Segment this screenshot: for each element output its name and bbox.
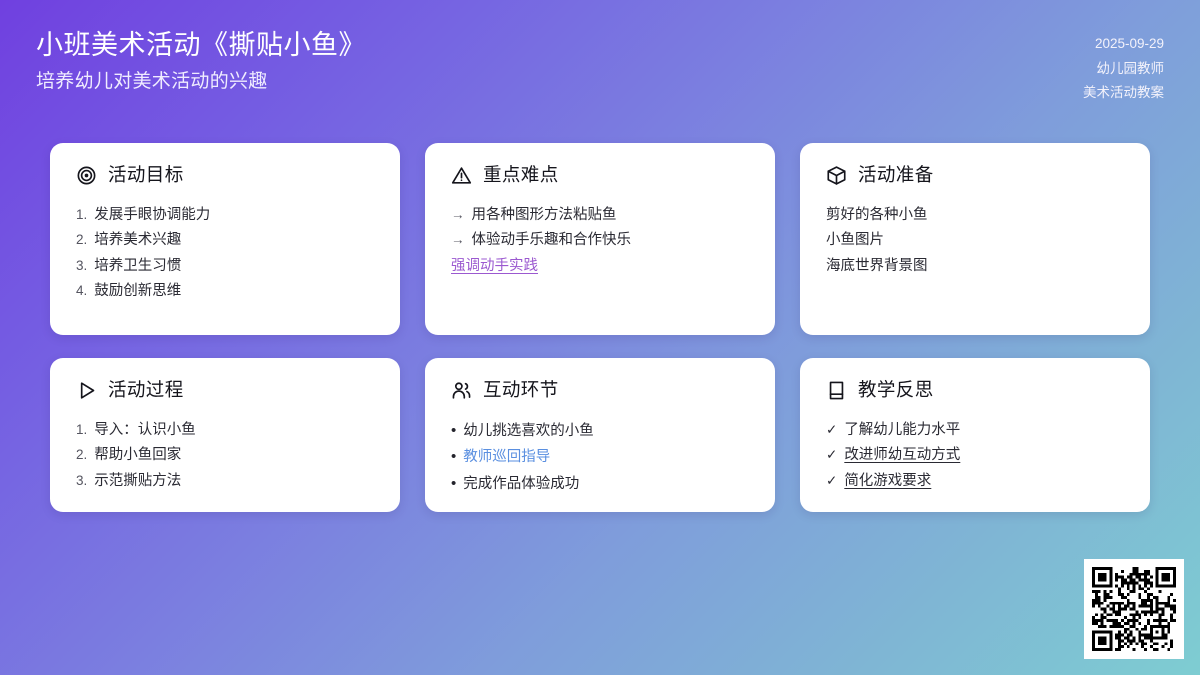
card-title: 活动过程 [108, 381, 184, 400]
list-item-link[interactable]: 教师巡回指导 [463, 450, 550, 465]
card-body: 1.发展手眼协调能力2.培养美术兴趣3.培养卫生习惯4.鼓励创新思维 [76, 202, 374, 304]
list-marker: → [451, 208, 465, 222]
list-marker: ✓ [826, 423, 837, 437]
list-item[interactable]: ✓简化游戏要求 [826, 468, 1124, 494]
list-item[interactable]: 2.帮助小鱼回家 [76, 443, 374, 469]
card-body: ✓了解幼儿能力水平✓改进师幼互动方式✓简化游戏要求 [826, 417, 1124, 494]
list-item-text: 用各种图形方法粘贴鱼 [472, 208, 617, 223]
list-marker: • [451, 476, 456, 491]
list-item-text: 小鱼图片 [826, 233, 884, 248]
card-interaction[interactable]: 互动环节•幼儿挑选喜欢的小鱼•教师巡回指导•完成作品体验成功 [425, 358, 775, 512]
card-header: 重点难点 [451, 165, 749, 186]
list-item[interactable]: 强调动手实践 [451, 253, 749, 279]
list-item[interactable]: 3.示范撕贴方法 [76, 468, 374, 494]
list-item[interactable]: ✓了解幼儿能力水平 [826, 417, 1124, 443]
list-item-text: 帮助小鱼回家 [94, 448, 181, 463]
list-marker: ✓ [826, 474, 837, 488]
slide-header: 小班美术活动《撕贴小鱼》 培养幼儿对美术活动的兴趣 2025-09-29 幼儿园… [0, 0, 1200, 128]
card-title: 活动目标 [108, 166, 184, 185]
list-item[interactable]: •教师巡回指导 [451, 444, 749, 471]
meta-doc-type: 美术活动教案 [1083, 83, 1164, 103]
card-header: 互动环节 [451, 380, 749, 401]
list-item-text: 完成作品体验成功 [463, 477, 579, 492]
card-title: 教学反思 [858, 381, 934, 400]
header-title-block: 小班美术活动《撕贴小鱼》 培养幼儿对美术活动的兴趣 [36, 30, 366, 94]
list-marker: → [451, 233, 465, 247]
page-title: 小班美术活动《撕贴小鱼》 [36, 30, 366, 61]
card-activity-goals[interactable]: 活动目标1.发展手眼协调能力2.培养美术兴趣3.培养卫生习惯4.鼓励创新思维 [50, 143, 400, 335]
card-title: 活动准备 [858, 166, 934, 185]
list-item-text: 培养卫生习惯 [94, 259, 181, 274]
card-activity-process[interactable]: 活动过程1.导入：认识小鱼2.帮助小鱼回家3.示范撕贴方法 [50, 358, 400, 512]
list-item[interactable]: ✓改进师幼互动方式 [826, 443, 1124, 469]
list-item[interactable]: 海底世界背景图 [826, 253, 1124, 279]
list-item-text: 鼓励创新思维 [94, 284, 181, 299]
list-marker: • [451, 423, 456, 438]
list-marker: 2. [76, 233, 87, 247]
users-icon [451, 380, 472, 401]
card-key-difficulties[interactable]: 重点难点→用各种图形方法粘贴鱼→体验动手乐趣和合作快乐强调动手实践 [425, 143, 775, 335]
list-item[interactable]: →体验动手乐趣和合作快乐 [451, 228, 749, 254]
list-item-text: 培养美术兴趣 [94, 233, 181, 248]
list-item-link[interactable]: 改进师幼互动方式 [844, 448, 960, 463]
list-item[interactable]: 1.发展手眼协调能力 [76, 202, 374, 228]
card-header: 活动准备 [826, 165, 1124, 186]
list-item-text: 发展手眼协调能力 [94, 208, 210, 223]
card-teaching-reflection[interactable]: 教学反思✓了解幼儿能力水平✓改进师幼互动方式✓简化游戏要求 [800, 358, 1150, 512]
list-item-link[interactable]: 强调动手实践 [451, 259, 538, 274]
list-item[interactable]: 3.培养卫生习惯 [76, 253, 374, 279]
list-marker: 4. [76, 284, 87, 298]
list-item-text: 了解幼儿能力水平 [844, 423, 960, 438]
play-icon [76, 380, 97, 401]
meta-role: 幼儿园教师 [1097, 59, 1165, 79]
list-item[interactable]: 剪好的各种小鱼 [826, 202, 1124, 228]
card-header: 活动过程 [76, 380, 374, 401]
list-marker: 3. [76, 259, 87, 273]
card-header: 活动目标 [76, 165, 374, 186]
list-item-text: 示范撕贴方法 [94, 474, 181, 489]
list-item-text: 剪好的各种小鱼 [826, 208, 928, 223]
list-item-text: 幼儿挑选喜欢的小鱼 [463, 424, 594, 439]
list-item[interactable]: 4.鼓励创新思维 [76, 279, 374, 305]
book-icon [826, 380, 847, 401]
list-item[interactable]: •幼儿挑选喜欢的小鱼 [451, 417, 749, 444]
card-activity-preparation[interactable]: 活动准备剪好的各种小鱼小鱼图片海底世界背景图 [800, 143, 1150, 335]
card-header: 教学反思 [826, 380, 1124, 401]
list-item[interactable]: →用各种图形方法粘贴鱼 [451, 202, 749, 228]
warning-triangle-icon [451, 165, 472, 186]
list-item[interactable]: 1.导入：认识小鱼 [76, 417, 374, 443]
card-title: 互动环节 [483, 381, 559, 400]
qr-code-panel[interactable] [1084, 559, 1184, 659]
page-subtitle: 培养幼儿对美术活动的兴趣 [36, 71, 366, 94]
list-item-text: 体验动手乐趣和合作快乐 [472, 233, 632, 248]
card-grid: 活动目标1.发展手眼协调能力2.培养美术兴趣3.培养卫生习惯4.鼓励创新思维重点… [50, 143, 1150, 512]
list-marker: 2. [76, 448, 87, 462]
target-icon [76, 165, 97, 186]
qr-code-image [1092, 567, 1176, 651]
card-body: 1.导入：认识小鱼2.帮助小鱼回家3.示范撕贴方法 [76, 417, 374, 494]
meta-date: 2025-09-29 [1095, 34, 1164, 54]
list-item-text: 海底世界背景图 [826, 259, 928, 274]
list-marker: 1. [76, 208, 87, 222]
header-meta-block: 2025-09-29 幼儿园教师 美术活动教案 [1083, 30, 1164, 103]
box-icon [826, 165, 847, 186]
list-item[interactable]: •完成作品体验成功 [451, 470, 749, 497]
card-body: →用各种图形方法粘贴鱼→体验动手乐趣和合作快乐强调动手实践 [451, 202, 749, 279]
list-item[interactable]: 2.培养美术兴趣 [76, 228, 374, 254]
list-item[interactable]: 小鱼图片 [826, 228, 1124, 254]
card-title: 重点难点 [483, 166, 559, 185]
list-item-text: 导入：认识小鱼 [94, 423, 196, 438]
list-item-link[interactable]: 简化游戏要求 [844, 474, 931, 489]
list-marker: 3. [76, 474, 87, 488]
list-marker: 1. [76, 423, 87, 437]
card-body: 剪好的各种小鱼小鱼图片海底世界背景图 [826, 202, 1124, 279]
list-marker: • [451, 449, 456, 464]
card-body: •幼儿挑选喜欢的小鱼•教师巡回指导•完成作品体验成功 [451, 417, 749, 497]
list-marker: ✓ [826, 448, 837, 462]
